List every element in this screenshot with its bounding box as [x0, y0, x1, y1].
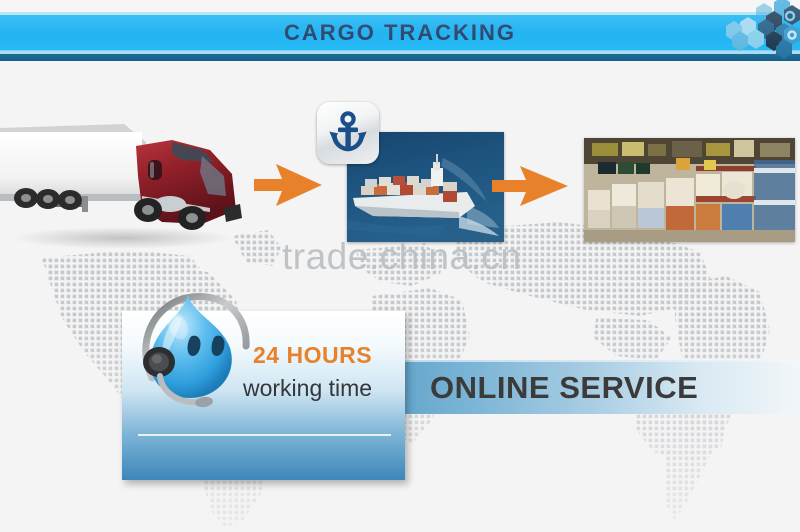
anchor-icon — [317, 102, 379, 164]
arrow-ship-to-warehouse-icon — [492, 164, 570, 208]
hours-label: 24 HOURS — [253, 342, 372, 369]
semi-truck-photo — [0, 98, 248, 250]
header: CARGO TRACKING — [0, 0, 800, 62]
headset-droplet-mascot-icon — [126, 286, 258, 422]
hexagon-cluster-icon — [680, 0, 800, 60]
cargo-tracking-banner: CARGO TRACKING — [0, 0, 800, 532]
online-service-label: ONLINE SERVICE — [430, 362, 698, 414]
retail-warehouse-photo — [584, 138, 795, 242]
card-divider — [138, 434, 391, 436]
watermark: trade.china.cn — [282, 236, 542, 278]
arrow-truck-to-ship-icon — [254, 162, 324, 208]
working-time-label: working time — [243, 375, 372, 402]
